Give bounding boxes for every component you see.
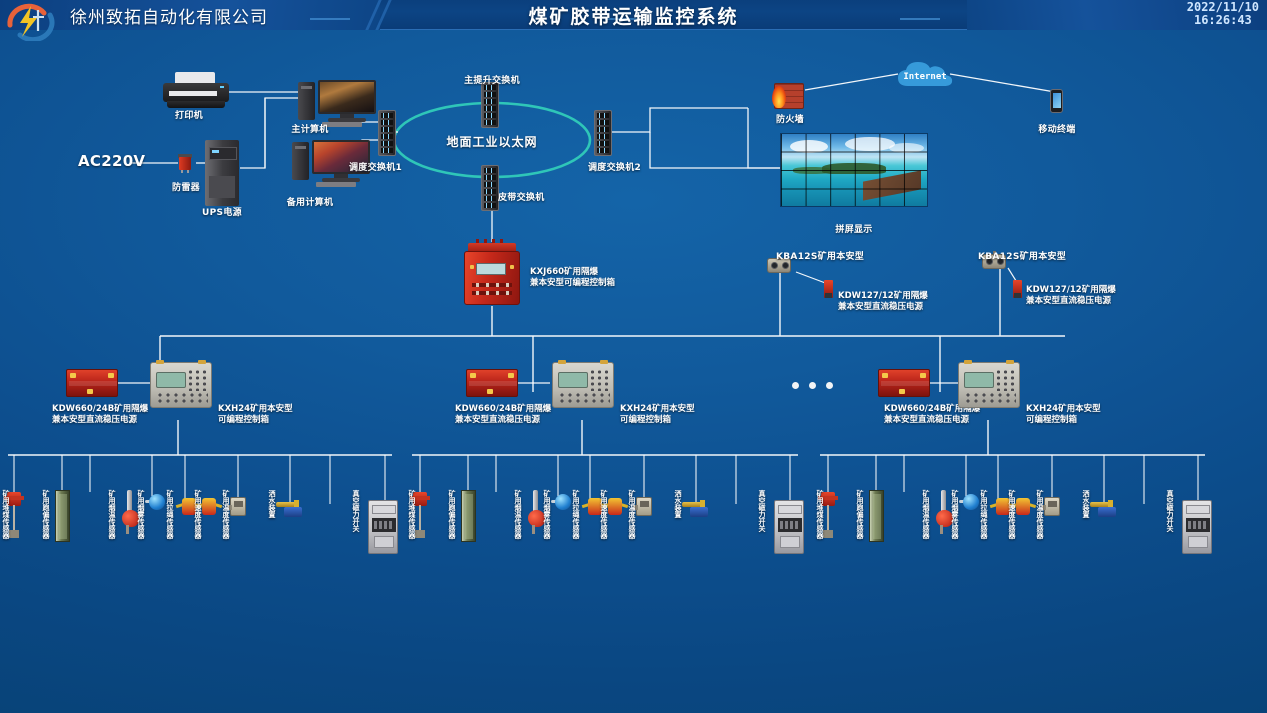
kxh24-controller-2-line1: KXH24矿用本安型 (620, 404, 695, 415)
main-computer-icon[interactable] (298, 80, 376, 128)
speed-sensor-label: 矿用速度传感器 (194, 490, 202, 539)
ups-label: UPS电源 (202, 205, 242, 218)
vacuum-magnetic-switch-label: 真空磁力开关 (1166, 490, 1174, 532)
temperature-sensor-icon[interactable] (636, 497, 652, 516)
dispatch-switch-1-label: 调度交换机1 (349, 160, 402, 173)
sprinkler-device-label: 洒水装置 (674, 490, 682, 518)
belt-deviation-sensor-icon[interactable] (55, 490, 70, 542)
printer-label: 打印机 (175, 108, 203, 121)
kxh24-controller-2-label: KXH24矿用本安型 可编程控制箱 (620, 404, 695, 426)
pull-rope-sensor-label: 矿用拉绳传感器 (166, 490, 174, 539)
kxj660-label-line1: KXJ660矿用隔爆 (530, 267, 615, 278)
kxj660-label-line2: 兼本安型可编程控制箱 (530, 278, 615, 289)
coal-pile-sensor-label: 矿用堆煤传感器 (408, 490, 416, 539)
belt-switch-label: 皮带交换机 (498, 190, 545, 203)
printer-icon[interactable] (163, 72, 229, 110)
smoke-sensor-icon[interactable] (145, 494, 167, 512)
temperature-sensor-icon[interactable] (230, 497, 246, 516)
kdw660-power-2-label: KDW660/24B矿用隔爆 兼本安型直流稳压电源 (455, 404, 551, 426)
app-header: 徐州致拓自动化有限公司 煤矿胶带运输监控系统 2022/11/10 16:26:… (0, 0, 1267, 30)
sprinkler-device-label: 洒水装置 (268, 490, 276, 518)
more-stations-ellipsis (792, 382, 833, 389)
kxh24-controller-1-label: KXH24矿用本安型 可编程控制箱 (218, 404, 293, 426)
sprinkler-device-label: 洒水装置 (1082, 490, 1090, 518)
kba12s-camera-2-label: KBA12S矿用本安型 (978, 249, 1066, 262)
kxh24-controller-3-line1: KXH24矿用本安型 (1026, 404, 1101, 415)
smoke-sensor-label: 矿用烟雾传感器 (137, 490, 145, 539)
kdw660-power-1-line1: KDW660/24B矿用隔爆 (52, 404, 148, 415)
kdw127-power-2-line1: KDW127/12矿用隔爆 (1026, 285, 1116, 296)
temperature-sensor-label: 矿用温度传感器 (628, 490, 636, 539)
belt-deviation-sensor-label: 矿用跑偏传感器 (856, 490, 864, 539)
kdw127-power-1-label: KDW127/12矿用隔爆 兼本安型直流稳压电源 (838, 291, 928, 313)
kdw127-power-1-line2: 兼本安型直流稳压电源 (838, 302, 928, 313)
belt-switch-icon[interactable] (481, 165, 499, 211)
kxh24-controller-3-line2: 可编程控制箱 (1026, 415, 1101, 426)
video-wall-label: 拼屏显示 (835, 222, 872, 235)
ethernet-ring-label: 地面工业以太网 (446, 133, 537, 150)
main-computer-label: 主计算机 (291, 122, 328, 135)
pull-rope-sensor-label: 矿用拉绳传感器 (572, 490, 580, 539)
kdw660-power-2-line2: 兼本安型直流稳压电源 (455, 415, 551, 426)
kdw660-power-3-line2: 兼本安型直流稳压电源 (884, 415, 980, 426)
ups-icon[interactable] (205, 140, 239, 206)
smoke-temp-sensor-label: 矿用烟温传感器 (514, 490, 522, 539)
temperature-sensor-icon[interactable] (1044, 497, 1060, 516)
internet-cloud-icon[interactable]: Internet (894, 60, 956, 90)
belt-deviation-sensor-icon[interactable] (461, 490, 476, 542)
sprinkler-device-icon[interactable] (682, 500, 712, 520)
vacuum-magnetic-switch-label: 真空磁力开关 (758, 490, 766, 532)
smoke-sensor-label: 矿用烟雾传感器 (543, 490, 551, 539)
clock: 2022/11/10 16:26:43 (1187, 1, 1259, 27)
clock-time: 16:26:43 (1187, 14, 1259, 27)
belt-deviation-sensor-label: 矿用跑偏传感器 (42, 490, 50, 539)
video-wall-display[interactable] (780, 133, 928, 207)
kxh24-controller-1-icon[interactable] (150, 362, 212, 408)
svg-text:Internet: Internet (903, 72, 946, 82)
smoke-temp-sensor-label: 矿用烟温传感器 (922, 490, 930, 539)
belt-deviation-sensor-icon[interactable] (869, 490, 884, 542)
kdw660-power-2-line1: KDW660/24B矿用隔爆 (455, 404, 551, 415)
pull-rope-sensor-label: 矿用拉绳传感器 (980, 490, 988, 539)
kdw660-power-2-icon[interactable] (466, 369, 518, 397)
sprinkler-device-icon[interactable] (276, 500, 306, 520)
vacuum-magnetic-switch-icon[interactable] (1182, 500, 1212, 554)
kxh24-controller-1-line2: 可编程控制箱 (218, 415, 293, 426)
kxj660-label: KXJ660矿用隔爆 兼本安型可编程控制箱 (530, 267, 615, 289)
main-hoist-switch-label: 主提升交换机 (464, 73, 520, 86)
kdw660-power-3-icon[interactable] (878, 369, 930, 397)
vacuum-magnetic-switch-icon[interactable] (368, 500, 398, 554)
kdw127-power-2-line2: 兼本安型直流稳压电源 (1026, 296, 1116, 307)
smoke-sensor-icon[interactable] (959, 494, 981, 512)
kdw127-power-2-icon[interactable] (1013, 280, 1022, 298)
kxh24-controller-3-label: KXH24矿用本安型 可编程控制箱 (1026, 404, 1101, 426)
kdw127-power-1-line1: KDW127/12矿用隔爆 (838, 291, 928, 302)
dispatch-switch-1-icon[interactable] (378, 110, 396, 156)
lightning-arrester-label: 防雷器 (172, 180, 200, 193)
firewall-icon[interactable] (774, 83, 804, 109)
belt-deviation-sensor-label: 矿用跑偏传感器 (448, 490, 456, 539)
kdw660-power-1-label: KDW660/24B矿用隔爆 兼本安型直流稳压电源 (52, 404, 148, 426)
smoke-temp-sensor-label: 矿用烟温传感器 (108, 490, 116, 539)
coal-pile-sensor-label: 矿用堆煤传感器 (816, 490, 824, 539)
lightning-arrester-icon[interactable] (178, 153, 192, 173)
kdw127-power-1-icon[interactable] (824, 280, 833, 298)
kxh24-controller-1-line1: KXH24矿用本安型 (218, 404, 293, 415)
smoke-sensor-label: 矿用烟雾传感器 (951, 490, 959, 539)
dispatch-switch-2-icon[interactable] (594, 110, 612, 156)
backup-computer-label: 备用计算机 (287, 195, 334, 208)
kxj660-controller-icon[interactable] (462, 243, 522, 305)
sprinkler-device-icon[interactable] (1090, 500, 1120, 520)
kdw660-power-1-icon[interactable] (66, 369, 118, 397)
kba12s-camera-1-label: KBA12S矿用本安型 (776, 249, 864, 262)
coal-pile-sensor-label: 矿用堆煤传感器 (2, 490, 10, 539)
kdw660-power-1-line2: 兼本安型直流稳压电源 (52, 415, 148, 426)
smoke-sensor-icon[interactable] (551, 494, 573, 512)
firewall-label: 防火墙 (776, 112, 804, 125)
kxh24-controller-2-icon[interactable] (552, 362, 614, 408)
main-hoist-switch-icon[interactable] (481, 82, 499, 128)
dispatch-switch-2-label: 调度交换机2 (588, 160, 641, 173)
ac-power-label: AC220V (78, 152, 145, 170)
temperature-sensor-label: 矿用温度传感器 (1036, 490, 1044, 539)
vacuum-magnetic-switch-label: 真空磁力开关 (352, 490, 360, 532)
mobile-terminal-label: 移动终端 (1038, 122, 1075, 135)
vacuum-magnetic-switch-icon[interactable] (774, 500, 804, 554)
page-title: 煤矿胶带运输监控系统 (0, 2, 1267, 29)
temperature-sensor-label: 矿用温度传感器 (222, 490, 230, 539)
speed-sensor-label: 矿用速度传感器 (1008, 490, 1016, 539)
mobile-terminal-icon[interactable] (1050, 89, 1063, 113)
kdw127-power-2-label: KDW127/12矿用隔爆 兼本安型直流稳压电源 (1026, 285, 1116, 307)
kxh24-controller-2-line2: 可编程控制箱 (620, 415, 695, 426)
kxh24-controller-3-icon[interactable] (958, 362, 1020, 408)
speed-sensor-label: 矿用速度传感器 (600, 490, 608, 539)
